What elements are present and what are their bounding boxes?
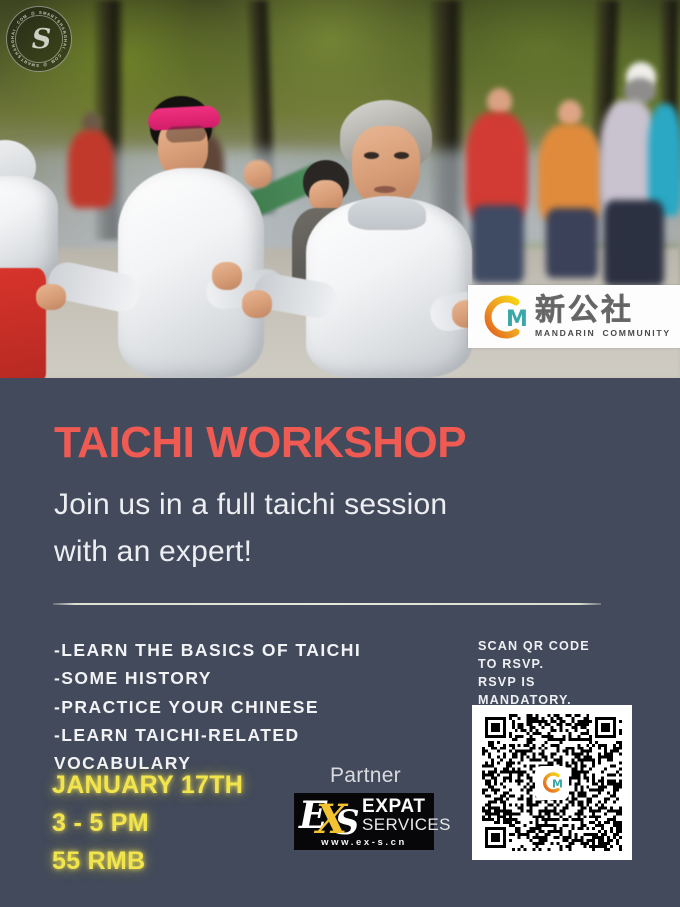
smartshanghai-watermark: S SMARTSHANGHAI.COM @ SMARTSHANGHAI.COM … bbox=[6, 6, 72, 72]
background-person bbox=[558, 100, 582, 126]
list-item: -SOME HISTORY bbox=[54, 664, 434, 692]
hero-photo: S SMARTSHANGHAI.COM @ SMARTSHANGHAI.COM … bbox=[0, 0, 680, 378]
divider bbox=[53, 603, 601, 605]
subtitle-line-2: with an expert! bbox=[54, 529, 614, 576]
elder-collar bbox=[348, 196, 426, 230]
mandarin-community-english-name: MANDARIN COMMUNITY bbox=[535, 328, 671, 338]
content-panel: TAICHI WORKSHOP Join us in a full taichi… bbox=[0, 378, 680, 907]
expat-services-name-line-1: EXPAT bbox=[362, 798, 451, 816]
qr-mandarin-community-mark-icon: M bbox=[539, 771, 565, 794]
elder-eye bbox=[394, 152, 409, 159]
mandarin-community-logo: M 新公社 MANDARIN COMMUNITY bbox=[468, 285, 680, 348]
partner-label: Partner bbox=[330, 764, 401, 788]
workshop-topics-list: -LEARN THE BASICS OF TAICHI -SOME HISTOR… bbox=[54, 636, 434, 778]
rsvp-line-1: SCAN QR CODE bbox=[478, 638, 590, 656]
taichi-practitioner-left-edge bbox=[0, 268, 46, 378]
background-fist bbox=[244, 160, 272, 188]
elder-eye bbox=[364, 152, 379, 159]
background-person bbox=[487, 88, 512, 115]
elder-mouth bbox=[374, 186, 396, 193]
list-item: -LEARN THE BASICS OF TAICHI bbox=[54, 636, 434, 664]
taichi-practitioner-hand bbox=[242, 290, 272, 318]
qr-code[interactable]: M bbox=[472, 705, 632, 860]
background-person bbox=[466, 112, 528, 220]
event-time: 3 - 5 PM bbox=[52, 804, 243, 842]
background-person bbox=[68, 130, 114, 208]
mandarin-community-chinese-name: 新公社 bbox=[535, 295, 671, 326]
rsvp-line-2: TO RSVP. bbox=[478, 656, 590, 674]
svg-text:M: M bbox=[506, 307, 528, 332]
rsvp-instructions: SCAN QR CODE TO RSVP. RSVP IS MANDATORY. bbox=[478, 638, 590, 710]
taichi-workshop-poster: S SMARTSHANGHAI.COM @ SMARTSHANGHAI.COM … bbox=[0, 0, 680, 907]
mandarin-community-wordmark: 新公社 MANDARIN COMMUNITY bbox=[535, 295, 671, 338]
list-item: -PRACTICE YOUR CHINESE bbox=[54, 693, 434, 721]
rsvp-line-3: RSVP IS bbox=[478, 674, 590, 692]
exs-monogram-icon: E X S bbox=[299, 796, 361, 838]
taichi-practitioner-pink-visor bbox=[166, 125, 207, 143]
background-person bbox=[472, 205, 524, 283]
expat-services-logo[interactable]: E X S EXPAT SERVICES www.ex-s.cn bbox=[294, 793, 434, 850]
mandarin-community-mark-icon: M bbox=[476, 293, 530, 341]
expat-services-url: www.ex-s.cn bbox=[294, 837, 434, 848]
watermark-text: SMARTSHANGHAI.COM @ SMARTSHANGHAI.COM @ bbox=[6, 6, 72, 72]
subtitle-line-1: Join us in a full taichi session bbox=[54, 482, 614, 529]
qr-center-logo: M bbox=[535, 766, 569, 800]
subtitle: Join us in a full taichi session with an… bbox=[54, 482, 614, 575]
background-person bbox=[604, 200, 664, 286]
taichi-practitioner-hand bbox=[36, 284, 66, 310]
taichi-practitioner-left-edge bbox=[0, 176, 58, 282]
svg-text:M: M bbox=[552, 778, 563, 791]
page-title: TAICHI WORKSHOP bbox=[54, 421, 466, 465]
background-person bbox=[546, 208, 598, 278]
list-item: -LEARN TAICHI-RELATED bbox=[54, 721, 434, 749]
expat-services-wordmark: EXPAT SERVICES bbox=[362, 796, 451, 834]
event-date: JANUARY 17TH bbox=[52, 766, 243, 804]
taichi-practitioner-hand bbox=[212, 262, 242, 290]
qr-code-canvas: M bbox=[482, 714, 622, 851]
exs-letter-x: X bbox=[316, 800, 347, 840]
expat-services-name-line-2: SERVICES bbox=[362, 816, 451, 833]
event-details: JANUARY 17TH 3 - 5 PM 55 RMB bbox=[52, 766, 243, 880]
event-price: 55 RMB bbox=[52, 842, 243, 880]
